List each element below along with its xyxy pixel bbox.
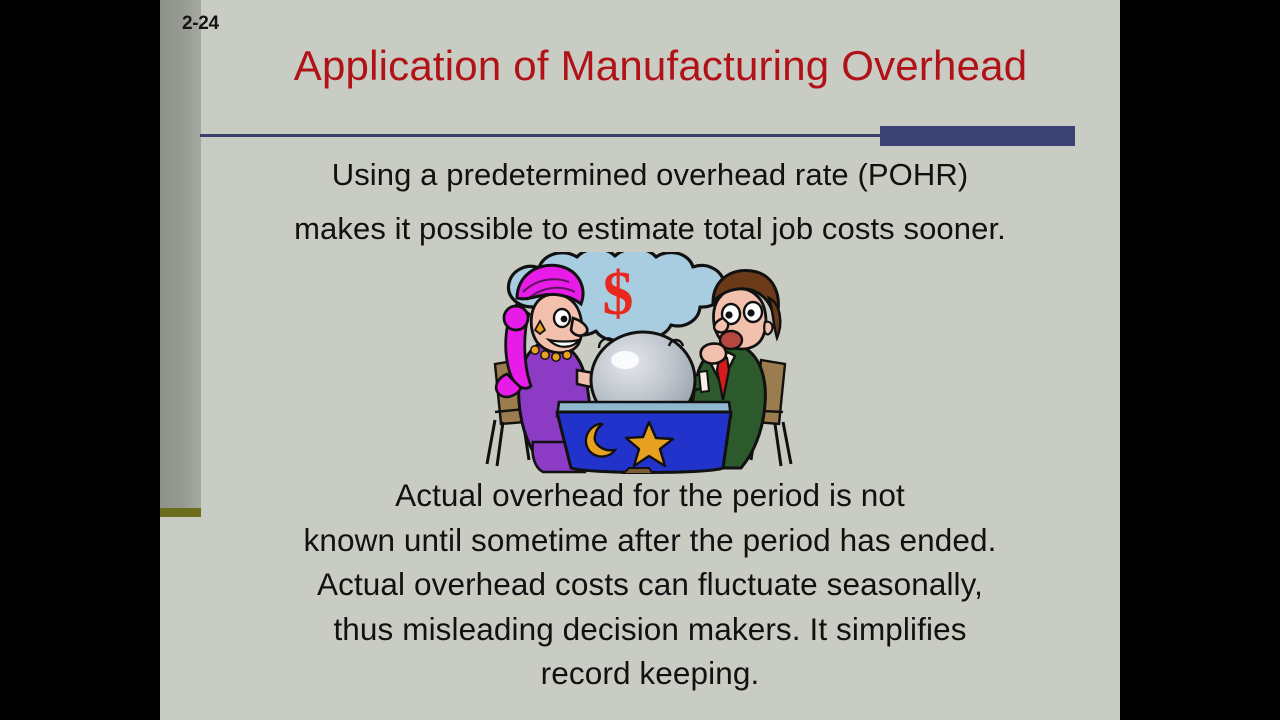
- body-text-top: Using a predetermined overhead rate (POH…: [190, 148, 1110, 256]
- body-bottom-line-1: Actual overhead for the period is not: [190, 473, 1110, 518]
- svg-text:$: $: [603, 260, 634, 328]
- fortune-teller-illustration: $: [473, 252, 813, 474]
- slide-number: 2-24: [182, 13, 219, 35]
- body-bottom-line-2: known until sometime after the period ha…: [190, 518, 1110, 563]
- body-top-line-2: makes it possible to estimate total job …: [190, 202, 1110, 256]
- body-bottom-line-4: thus misleading decision makers. It simp…: [190, 607, 1110, 652]
- presentation-slide: 2-24 Application of Manufacturing Overhe…: [160, 0, 1120, 720]
- page-title: Application of Manufacturing Overhead: [201, 42, 1120, 90]
- title-accent-block: [880, 126, 1075, 146]
- body-bottom-line-5: record keeping.: [190, 651, 1110, 696]
- title-divider-rule: [200, 134, 880, 137]
- dollar-sign-icon: $: [603, 260, 634, 328]
- body-text-bottom: Actual overhead for the period is not kn…: [190, 473, 1110, 696]
- body-top-line-1: Using a predetermined overhead rate (POH…: [190, 148, 1110, 202]
- table-with-cloth: [557, 402, 731, 474]
- body-bottom-line-3: Actual overhead costs can fluctuate seas…: [190, 562, 1110, 607]
- screenshot-root: 2-24 Application of Manufacturing Overhe…: [0, 0, 1280, 720]
